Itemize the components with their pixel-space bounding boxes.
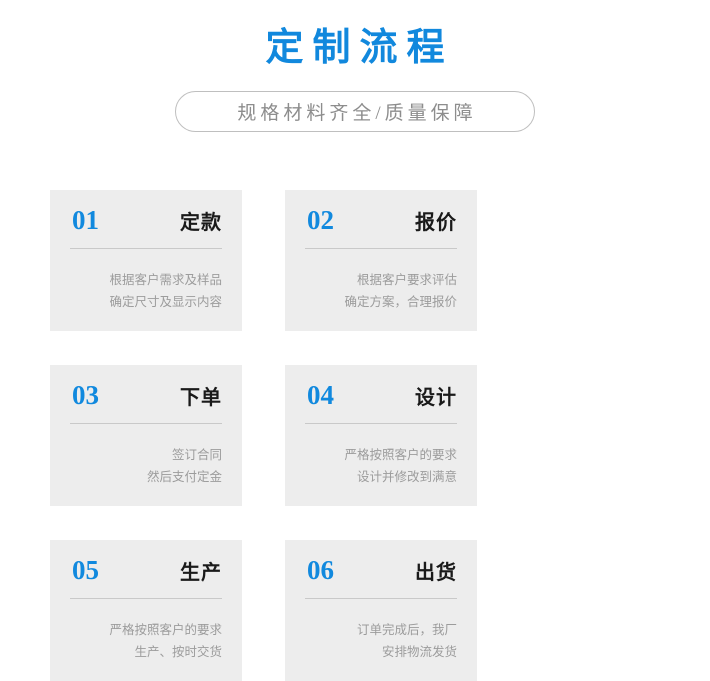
custom-process-page: 定制流程 规格材料齐全/质量保障 01 定款 根据客户需求及样品 确定尺寸及显示… xyxy=(0,0,710,554)
step-title: 报价 xyxy=(415,212,457,232)
step-title: 定款 xyxy=(180,212,222,232)
card-divider xyxy=(70,598,222,599)
card-header: 04 设计 xyxy=(303,382,459,409)
process-step-card-02: 02 报价 根据客户要求评估 确定方案，合理报价 xyxy=(285,190,477,331)
card-divider xyxy=(305,423,457,424)
step-description-line-1: 严格按照客户的要求 xyxy=(303,444,457,466)
step-number: 03 xyxy=(72,382,99,409)
step-number: 05 xyxy=(72,557,99,584)
subtitle-badge: 规格材料齐全/质量保障 xyxy=(175,91,535,132)
card-divider xyxy=(305,598,457,599)
step-description-line-1: 订单完成后，我厂 xyxy=(303,619,457,641)
process-step-card-01: 01 定款 根据客户需求及样品 确定尺寸及显示内容 xyxy=(50,190,242,331)
card-header: 05 生产 xyxy=(68,557,224,584)
step-description: 严格按照客户的要求 生产、按时交货 xyxy=(68,619,224,663)
process-step-card-03: 03 下单 签订合同 然后支付定金 xyxy=(50,365,242,506)
step-number: 02 xyxy=(307,207,334,234)
step-description-line-1: 严格按照客户的要求 xyxy=(68,619,222,641)
step-number: 06 xyxy=(307,557,334,584)
step-description: 根据客户要求评估 确定方案，合理报价 xyxy=(303,269,459,313)
step-description: 严格按照客户的要求 设计并修改到满意 xyxy=(303,444,459,488)
card-divider xyxy=(305,248,457,249)
step-title: 出货 xyxy=(415,562,457,582)
step-description-line-2: 确定尺寸及显示内容 xyxy=(68,291,222,313)
step-description-line-1: 签订合同 xyxy=(68,444,222,466)
card-header: 03 下单 xyxy=(68,382,224,409)
step-title: 生产 xyxy=(180,562,222,582)
subtitle-text: 规格材料齐全/质量保障 xyxy=(233,98,476,125)
card-header: 06 出货 xyxy=(303,557,459,584)
step-description-line-2: 然后支付定金 xyxy=(68,466,222,488)
card-header: 01 定款 xyxy=(68,207,224,234)
process-step-card-05: 05 生产 严格按照客户的要求 生产、按时交货 xyxy=(50,540,242,681)
step-description-line-2: 确定方案，合理报价 xyxy=(303,291,457,313)
step-number: 01 xyxy=(72,207,99,234)
step-title: 下单 xyxy=(180,387,222,407)
process-step-card-06: 06 出货 订单完成后，我厂 安排物流发货 xyxy=(285,540,477,681)
process-step-card-04: 04 设计 严格按照客户的要求 设计并修改到满意 xyxy=(285,365,477,506)
step-description: 签订合同 然后支付定金 xyxy=(68,444,224,488)
step-description-line-2: 安排物流发货 xyxy=(303,641,457,663)
page-title: 定制流程 xyxy=(0,26,710,70)
step-description-line-1: 根据客户要求评估 xyxy=(303,269,457,291)
step-description-line-2: 设计并修改到满意 xyxy=(303,466,457,488)
process-steps-grid: 01 定款 根据客户需求及样品 确定尺寸及显示内容 02 报价 根据客户要求评估… xyxy=(50,190,678,681)
step-description-line-1: 根据客户需求及样品 xyxy=(68,269,222,291)
step-number: 04 xyxy=(307,382,334,409)
card-header: 02 报价 xyxy=(303,207,459,234)
step-title: 设计 xyxy=(415,387,457,407)
card-divider xyxy=(70,423,222,424)
page-header: 定制流程 规格材料齐全/质量保障 xyxy=(0,0,710,132)
step-description-line-2: 生产、按时交货 xyxy=(68,641,222,663)
subtitle-container: 规格材料齐全/质量保障 xyxy=(0,91,710,132)
step-description: 订单完成后，我厂 安排物流发货 xyxy=(303,619,459,663)
step-description: 根据客户需求及样品 确定尺寸及显示内容 xyxy=(68,269,224,313)
card-divider xyxy=(70,248,222,249)
